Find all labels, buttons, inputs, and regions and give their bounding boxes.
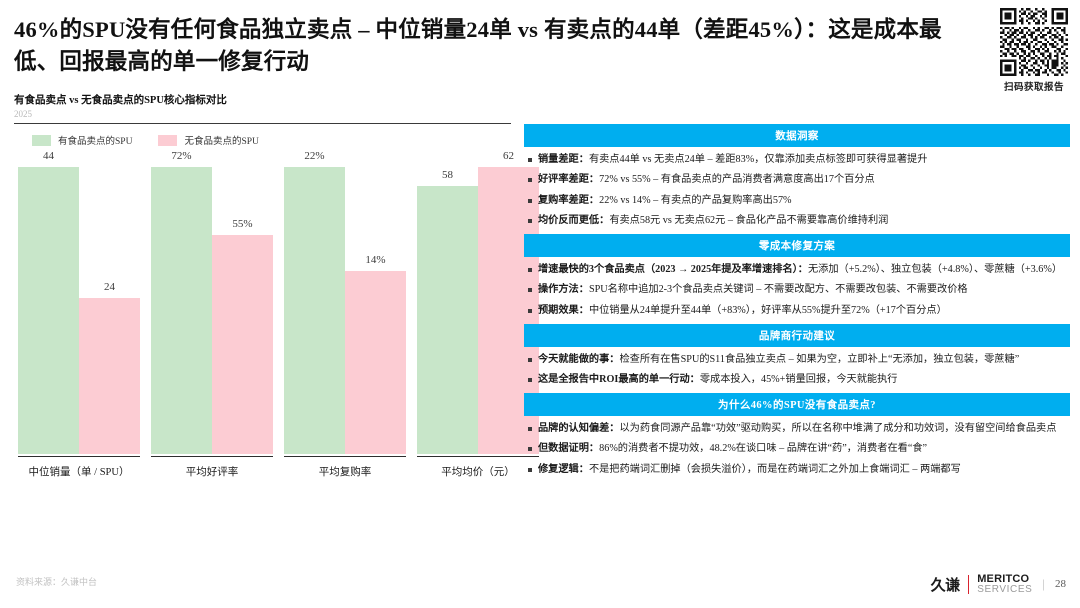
bullet-text: 无添加（+5.2%）、独立包装（+4.8%）、零蔗糖（+3.6%） <box>808 264 1062 275</box>
axis-line <box>284 456 406 457</box>
insights-panel: 数据洞察 销量差距：有卖点44单 vs 无卖点24单 – 差距83%，仅靠添加卖… <box>524 124 1070 483</box>
bar-green: 22% <box>284 167 345 454</box>
chart-subtitle: 有食品卖点 vs 无食品卖点的SPU核心指标对比 <box>14 92 511 107</box>
qr-code-icon <box>1000 8 1068 76</box>
bar-value-label: 44 <box>18 150 79 162</box>
legend-swatch-pink <box>158 135 177 146</box>
logo-cn-text: 久谦 <box>931 574 960 595</box>
chart-panel: 有食品卖点 vs 无食品卖点的SPU核心指标对比 2025 有食品卖点的SPU … <box>14 92 511 542</box>
bullet-dot-icon <box>528 358 532 362</box>
bullet-strong: 复购率差距： <box>538 195 599 206</box>
bullet-strong: 但数据证明： <box>538 443 599 454</box>
bullet-strong: 修复逻辑： <box>538 464 589 475</box>
list-item: 修复逻辑：不是把药端词汇删掉（会损失溢价），而是在药端词汇之外加上食端词汇 – … <box>528 462 1068 477</box>
bar-green: 44 <box>18 167 79 454</box>
footer-separator: | <box>1042 576 1045 592</box>
bullet-dot-icon <box>528 468 532 472</box>
legend-item-without-selling-point: 无食品卖点的SPU <box>158 133 258 147</box>
bar-green: 58 <box>417 186 478 454</box>
bullet-text: 86%的消费者不提功效，48.2%在谈口味 – 品牌在讲“药”，消费者在看“食” <box>599 443 927 454</box>
section-body: 增速最快的3个食品卖点（2023 → 2025年提及率增速排名）：无添加（+5.… <box>524 257 1070 324</box>
bar-pair: 22% 14% <box>284 167 406 454</box>
bullet-dot-icon <box>528 378 532 382</box>
axis-line <box>18 456 140 457</box>
bar-value-label: 24 <box>79 281 140 293</box>
bullet-dot-icon <box>528 427 532 431</box>
bullet-strong: 好评率差距： <box>538 174 599 185</box>
bullet-text: 以为药食同源产品靠“功效”驱动购买，所以在名称中堆满了成分和功效词，没有留空间给… <box>620 423 1057 434</box>
chart-plot-area: 44 24 中位销量（单 / SPU） 72% <box>14 167 511 479</box>
chart-legend: 有食品卖点的SPU 无食品卖点的SPU <box>14 133 511 147</box>
section-body: 品牌的认知偏差：以为药食同源产品靠“功效”驱动购买，所以在名称中堆满了成分和功效… <box>524 416 1070 483</box>
legend-label: 无食品卖点的SPU <box>184 133 258 147</box>
bullet-text: 72% vs 55% – 有食品卖点的产品消费者满意度高出17个百分点 <box>599 174 875 185</box>
bullet-dot-icon <box>528 199 532 203</box>
bullet-strong: 今天就能做的事： <box>538 354 620 365</box>
list-item: 这是全报告中ROI最高的单一行动：零成本投入，45%+销量回报，今天就能执行 <box>528 372 1068 387</box>
logo-divider <box>968 575 970 594</box>
category-label: 中位销量（单 / SPU） <box>18 464 140 479</box>
bullet-text: SPU名称中追加2-3个食品卖点关键词 – 不需要改配方、不需要改包装、不需要改… <box>589 284 968 295</box>
list-item: 预期效果：中位销量从24单提升至44单（+83%），好评率从55%提升至72%（… <box>528 303 1068 318</box>
source-note: 资料来源：久谦中台 <box>16 575 97 588</box>
bar-pair: 72% 55% <box>151 167 273 454</box>
qr-caption: 扫码获取报告 <box>1000 79 1068 93</box>
bullet-strong: 销量差距： <box>538 154 589 165</box>
bullet-strong: 操作方法： <box>538 284 589 295</box>
bullet-text: 22% vs 14% – 有卖点的产品复购率高出57% <box>599 195 791 206</box>
section-body: 今天就能做的事：检查所有在售SPU的S11食品独立卖点 – 如果为空，立即补上“… <box>524 347 1070 394</box>
qr-block: 扫码获取报告 <box>1000 8 1068 93</box>
bar-pink: 24 <box>79 298 140 454</box>
bullet-strong: 品牌的认知偏差： <box>538 423 620 434</box>
bar-value-label: 55% <box>212 218 273 230</box>
legend-label: 有食品卖点的SPU <box>58 133 132 147</box>
bar-pink: 14% <box>345 271 406 454</box>
section-brand-actions: 品牌商行动建议 今天就能做的事：检查所有在售SPU的S11食品独立卖点 – 如果… <box>524 324 1070 393</box>
bar-value-label: 14% <box>345 254 406 266</box>
slide: 46%的SPU没有任何食品独立卖点 – 中位销量24单 vs 有卖点的44单（差… <box>0 0 1080 608</box>
bullet-dot-icon <box>528 219 532 223</box>
bullet-text: 有卖点58元 vs 无卖点62元 – 食品化产品不需要靠高价维持利润 <box>609 215 888 226</box>
bar-green: 72% <box>151 167 212 454</box>
bar-value-label: 22% <box>284 150 345 162</box>
bullet-text: 检查所有在售SPU的S11食品独立卖点 – 如果为空，立即补上“无添加，独立包装… <box>620 354 1020 365</box>
footer-logo: 久谦 MERITCO SERVICES | 28 <box>931 574 1066 595</box>
legend-swatch-green <box>32 135 51 146</box>
bar-group: 58 62 平均均价（元） <box>417 167 539 479</box>
list-item: 今天就能做的事：检查所有在售SPU的S11食品独立卖点 – 如果为空，立即补上“… <box>528 352 1068 367</box>
legend-item-with-selling-point: 有食品卖点的SPU <box>32 133 132 147</box>
bullet-strong: 增速最快的3个食品卖点（2023 → 2025年提及率增速排名）： <box>538 264 808 275</box>
bullet-dot-icon <box>528 309 532 313</box>
chart-divider <box>14 123 511 124</box>
bar-pink: 55% <box>212 235 273 454</box>
logo-en-line2: SERVICES <box>977 585 1032 595</box>
section-header: 数据洞察 <box>524 124 1070 147</box>
bar-group: 22% 14% 平均复购率 <box>284 167 406 479</box>
chart-year: 2025 <box>14 109 511 119</box>
bullet-text: 有卖点44单 vs 无卖点24单 – 差距83%，仅靠添加卖点标签即可获得显著提… <box>589 154 927 165</box>
bar-pair: 58 62 <box>417 167 539 454</box>
bullet-strong: 这是全报告中ROI最高的单一行动： <box>538 374 700 385</box>
bar-group: 44 24 中位销量（单 / SPU） <box>18 167 140 479</box>
category-label: 平均好评率 <box>151 464 273 479</box>
page-title: 46%的SPU没有任何食品独立卖点 – 中位销量24单 vs 有卖点的44单（差… <box>14 14 974 78</box>
bullet-dot-icon <box>528 158 532 162</box>
bar-value-label: 58 <box>417 169 478 181</box>
category-label: 平均复购率 <box>284 464 406 479</box>
bullet-dot-icon <box>528 288 532 292</box>
list-item: 增速最快的3个食品卖点（2023 → 2025年提及率增速排名）：无添加（+5.… <box>528 262 1068 277</box>
axis-line <box>417 456 539 457</box>
section-zero-cost-fix: 零成本修复方案 增速最快的3个食品卖点（2023 → 2025年提及率增速排名）… <box>524 234 1070 324</box>
list-item: 均价反而更低：有卖点58元 vs 无卖点62元 – 食品化产品不需要靠高价维持利… <box>528 213 1068 228</box>
bar-pair: 44 24 <box>18 167 140 454</box>
bullet-strong: 预期效果： <box>538 305 589 316</box>
bullet-text: 不是把药端词汇删掉（会损失溢价），而是在药端词汇之外加上食端词汇 – 两端都写 <box>589 464 961 475</box>
bullet-text: 中位销量从24单提升至44单（+83%），好评率从55%提升至72%（+17个百… <box>589 305 947 316</box>
bullet-dot-icon <box>528 447 532 451</box>
list-item: 销量差距：有卖点44单 vs 无卖点24单 – 差距83%，仅靠添加卖点标签即可… <box>528 152 1068 167</box>
category-label: 平均均价（元） <box>417 464 539 479</box>
list-item: 品牌的认知偏差：以为药食同源产品靠“功效”驱动购买，所以在名称中堆满了成分和功效… <box>528 421 1068 436</box>
axis-line <box>151 456 273 457</box>
section-why-no-selling-point: 为什么46%的SPU没有食品卖点? 品牌的认知偏差：以为药食同源产品靠“功效”驱… <box>524 393 1070 483</box>
section-body: 销量差距：有卖点44单 vs 无卖点24单 – 差距83%，仅靠添加卖点标签即可… <box>524 147 1070 235</box>
section-data-insights: 数据洞察 销量差距：有卖点44单 vs 无卖点24单 – 差距83%，仅靠添加卖… <box>524 124 1070 234</box>
bullet-dot-icon <box>528 268 532 272</box>
list-item: 操作方法：SPU名称中追加2-3个食品卖点关键词 – 不需要改配方、不需要改包装… <box>528 282 1068 297</box>
bullet-dot-icon <box>528 178 532 182</box>
list-item: 复购率差距：22% vs 14% – 有卖点的产品复购率高出57% <box>528 193 1068 208</box>
bar-value-label: 72% <box>151 150 212 162</box>
bullet-text: 零成本投入，45%+销量回报，今天就能执行 <box>700 374 898 385</box>
section-header: 零成本修复方案 <box>524 234 1070 257</box>
page-number: 28 <box>1055 578 1066 590</box>
list-item: 好评率差距：72% vs 55% – 有食品卖点的产品消费者满意度高出17个百分… <box>528 172 1068 187</box>
bullet-strong: 均价反而更低： <box>538 215 609 226</box>
section-header: 品牌商行动建议 <box>524 324 1070 347</box>
list-item: 但数据证明：86%的消费者不提功效，48.2%在谈口味 – 品牌在讲“药”，消费… <box>528 441 1068 456</box>
bar-group: 72% 55% 平均好评率 <box>151 167 273 479</box>
section-header: 为什么46%的SPU没有食品卖点? <box>524 393 1070 416</box>
